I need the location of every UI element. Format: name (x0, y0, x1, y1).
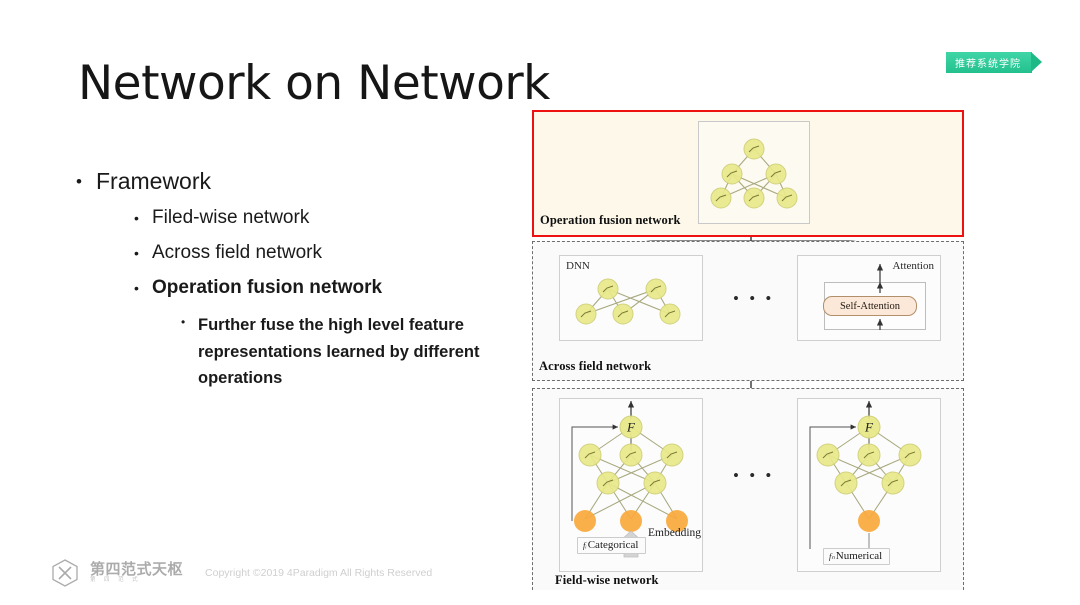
bullet-label: Filed-wise network (152, 207, 516, 229)
bullet-item-framework: • Framework (76, 168, 516, 195)
svg-text:F: F (864, 420, 874, 435)
bullet-label: Framework (96, 168, 516, 195)
input-tag-numerical: fₙNumerical (823, 548, 890, 565)
self-attention-pill: Self-Attention (823, 296, 917, 316)
section-operation-fusion-network: Operation fusion network (532, 110, 964, 237)
bullet-list: • Framework • Filed-wise network • Acros… (76, 168, 516, 392)
input-tag-categorical: fᵢCategorical (577, 537, 646, 554)
bullet-marker-icon: • (134, 277, 152, 295)
section-label-field-wise: Field-wise network (555, 573, 659, 588)
section-field-wise-network: F Embedding fᵢCategorical • • • (532, 388, 964, 590)
bullet-marker-icon: • (181, 312, 198, 328)
bullet-item-field-wise-network: • Filed-wise network (134, 207, 516, 229)
field-subscript-n: fₙ (829, 551, 835, 561)
field-ellipsis: • • • (733, 467, 774, 484)
architecture-diagram: Operation fusion network DNN (532, 110, 964, 590)
dnn-box: DNN (559, 255, 703, 341)
academy-badge: 推荐系统学院 (946, 52, 1032, 73)
brand-name: 第四范式天枢 第 四 范 式 (90, 562, 183, 585)
bullet-label: Further fuse the high level feature repr… (198, 312, 516, 392)
page-title: Network on Network (78, 56, 550, 111)
numerical-network-graph: F (798, 399, 940, 571)
bullet-item-further-fuse: • Further fuse the high level feature re… (181, 312, 516, 392)
bullet-item-across-field-network: • Across field network (134, 242, 516, 264)
dnn-network-graph (560, 256, 702, 340)
academy-badge-label: 推荐系统学院 (955, 55, 1021, 70)
footer: 第四范式天枢 第 四 范 式 Copyright ©2019 4Paradigm… (50, 558, 432, 588)
bullet-label: Operation fusion network (152, 277, 516, 299)
bullet-marker-icon: • (134, 207, 152, 225)
bullet-label: Across field network (152, 242, 516, 264)
hexagon-x-logo-icon (50, 558, 80, 588)
bullet-marker-icon: • (134, 242, 152, 260)
field-label-numerical: Numerical (836, 550, 882, 562)
embedding-label: Embedding (648, 527, 701, 539)
brand-name-cn: 第四范式天枢 (90, 560, 183, 578)
academy-badge-tail-icon (1031, 52, 1042, 72)
copyright-text: Copyright ©2019 4Paradigm All Rights Res… (205, 567, 432, 579)
bullet-marker-icon: • (76, 168, 96, 190)
section-across-field-network: DNN (532, 241, 964, 381)
fusion-network-box (698, 121, 810, 224)
brand-name-sub: 第 四 范 式 (90, 578, 183, 584)
svg-text:F: F (626, 420, 636, 435)
section-label-operation-fusion: Operation fusion network (540, 213, 681, 228)
field-subscript-i: fᵢ (583, 540, 587, 550)
field-wise-box-numerical: F (797, 398, 941, 572)
bullet-item-operation-fusion-network: • Operation fusion network (134, 277, 516, 299)
across-ellipsis: • • • (733, 290, 774, 307)
fusion-network-graph (699, 122, 809, 223)
section-label-across-field: Across field network (539, 359, 651, 374)
field-label-categorical: Categorical (588, 539, 639, 551)
